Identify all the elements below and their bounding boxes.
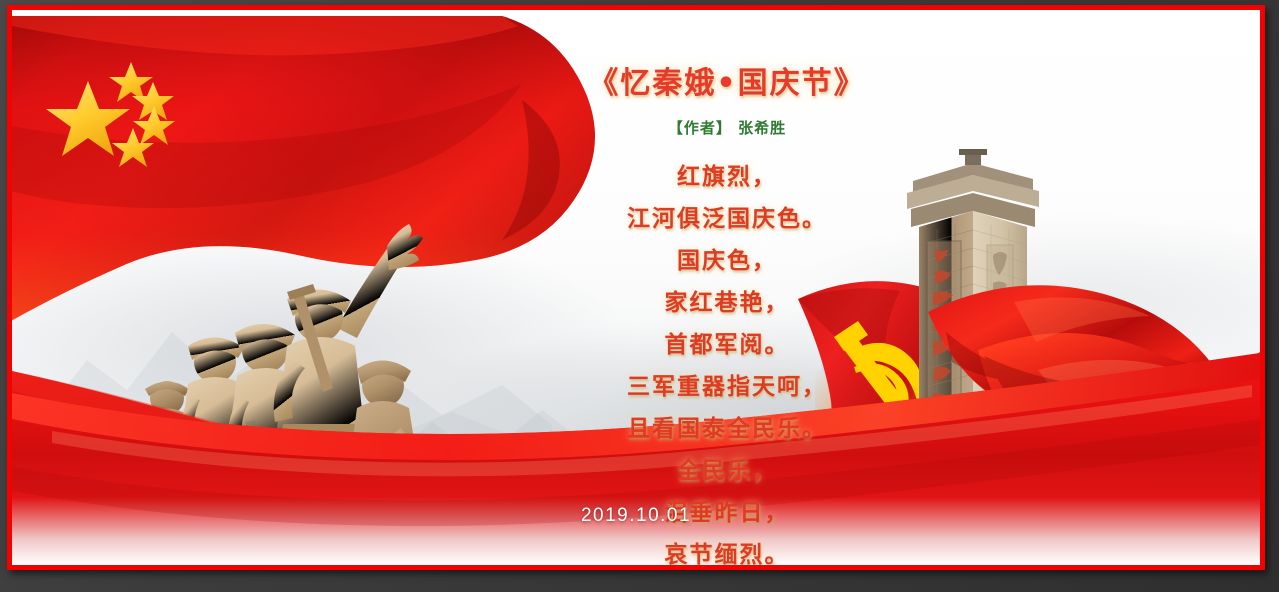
date-stamp: 2019.10.01 bbox=[12, 505, 1260, 527]
poem-body: 红旗烈， 江河俱泛国庆色。 国庆色， 家红巷艳， 首都军阅。 三军重器指天呵， … bbox=[472, 156, 982, 566]
poem-line: 江河俱泛国庆色。 bbox=[472, 198, 982, 240]
poster-red-frame: 《忆秦娥•国庆节》 【作者】 张希胜 红旗烈， 江河俱泛国庆色。 国庆色， 家红… bbox=[7, 5, 1265, 570]
poem-line: 国庆色， bbox=[472, 240, 982, 282]
poster-canvas: 《忆秦娥•国庆节》 【作者】 张希胜 红旗烈， 江河俱泛国庆色。 国庆色， 家红… bbox=[12, 10, 1260, 565]
poem-line: 家红巷艳， bbox=[472, 282, 982, 324]
poem-line: 全民乐， bbox=[472, 450, 982, 492]
poem-line: 首都军阅。 bbox=[472, 324, 982, 366]
poem-text-column: 《忆秦娥•国庆节》 【作者】 张希胜 红旗烈， 江河俱泛国庆色。 国庆色， 家红… bbox=[472, 65, 982, 565]
poster-root: 《忆秦娥•国庆节》 【作者】 张希胜 红旗烈， 江河俱泛国庆色。 国庆色， 家红… bbox=[0, 0, 1279, 592]
poem-line: 且看国泰全民乐。 bbox=[472, 408, 982, 450]
poem-line: 哀节缅烈。 bbox=[472, 534, 982, 566]
page-title: 《忆秦娥•国庆节》 bbox=[472, 65, 982, 103]
poem-line: 红旗烈， bbox=[472, 156, 982, 198]
poem-line: 三军重器指天呵， bbox=[472, 366, 982, 408]
poem-author: 【作者】 张希胜 bbox=[472, 117, 982, 138]
